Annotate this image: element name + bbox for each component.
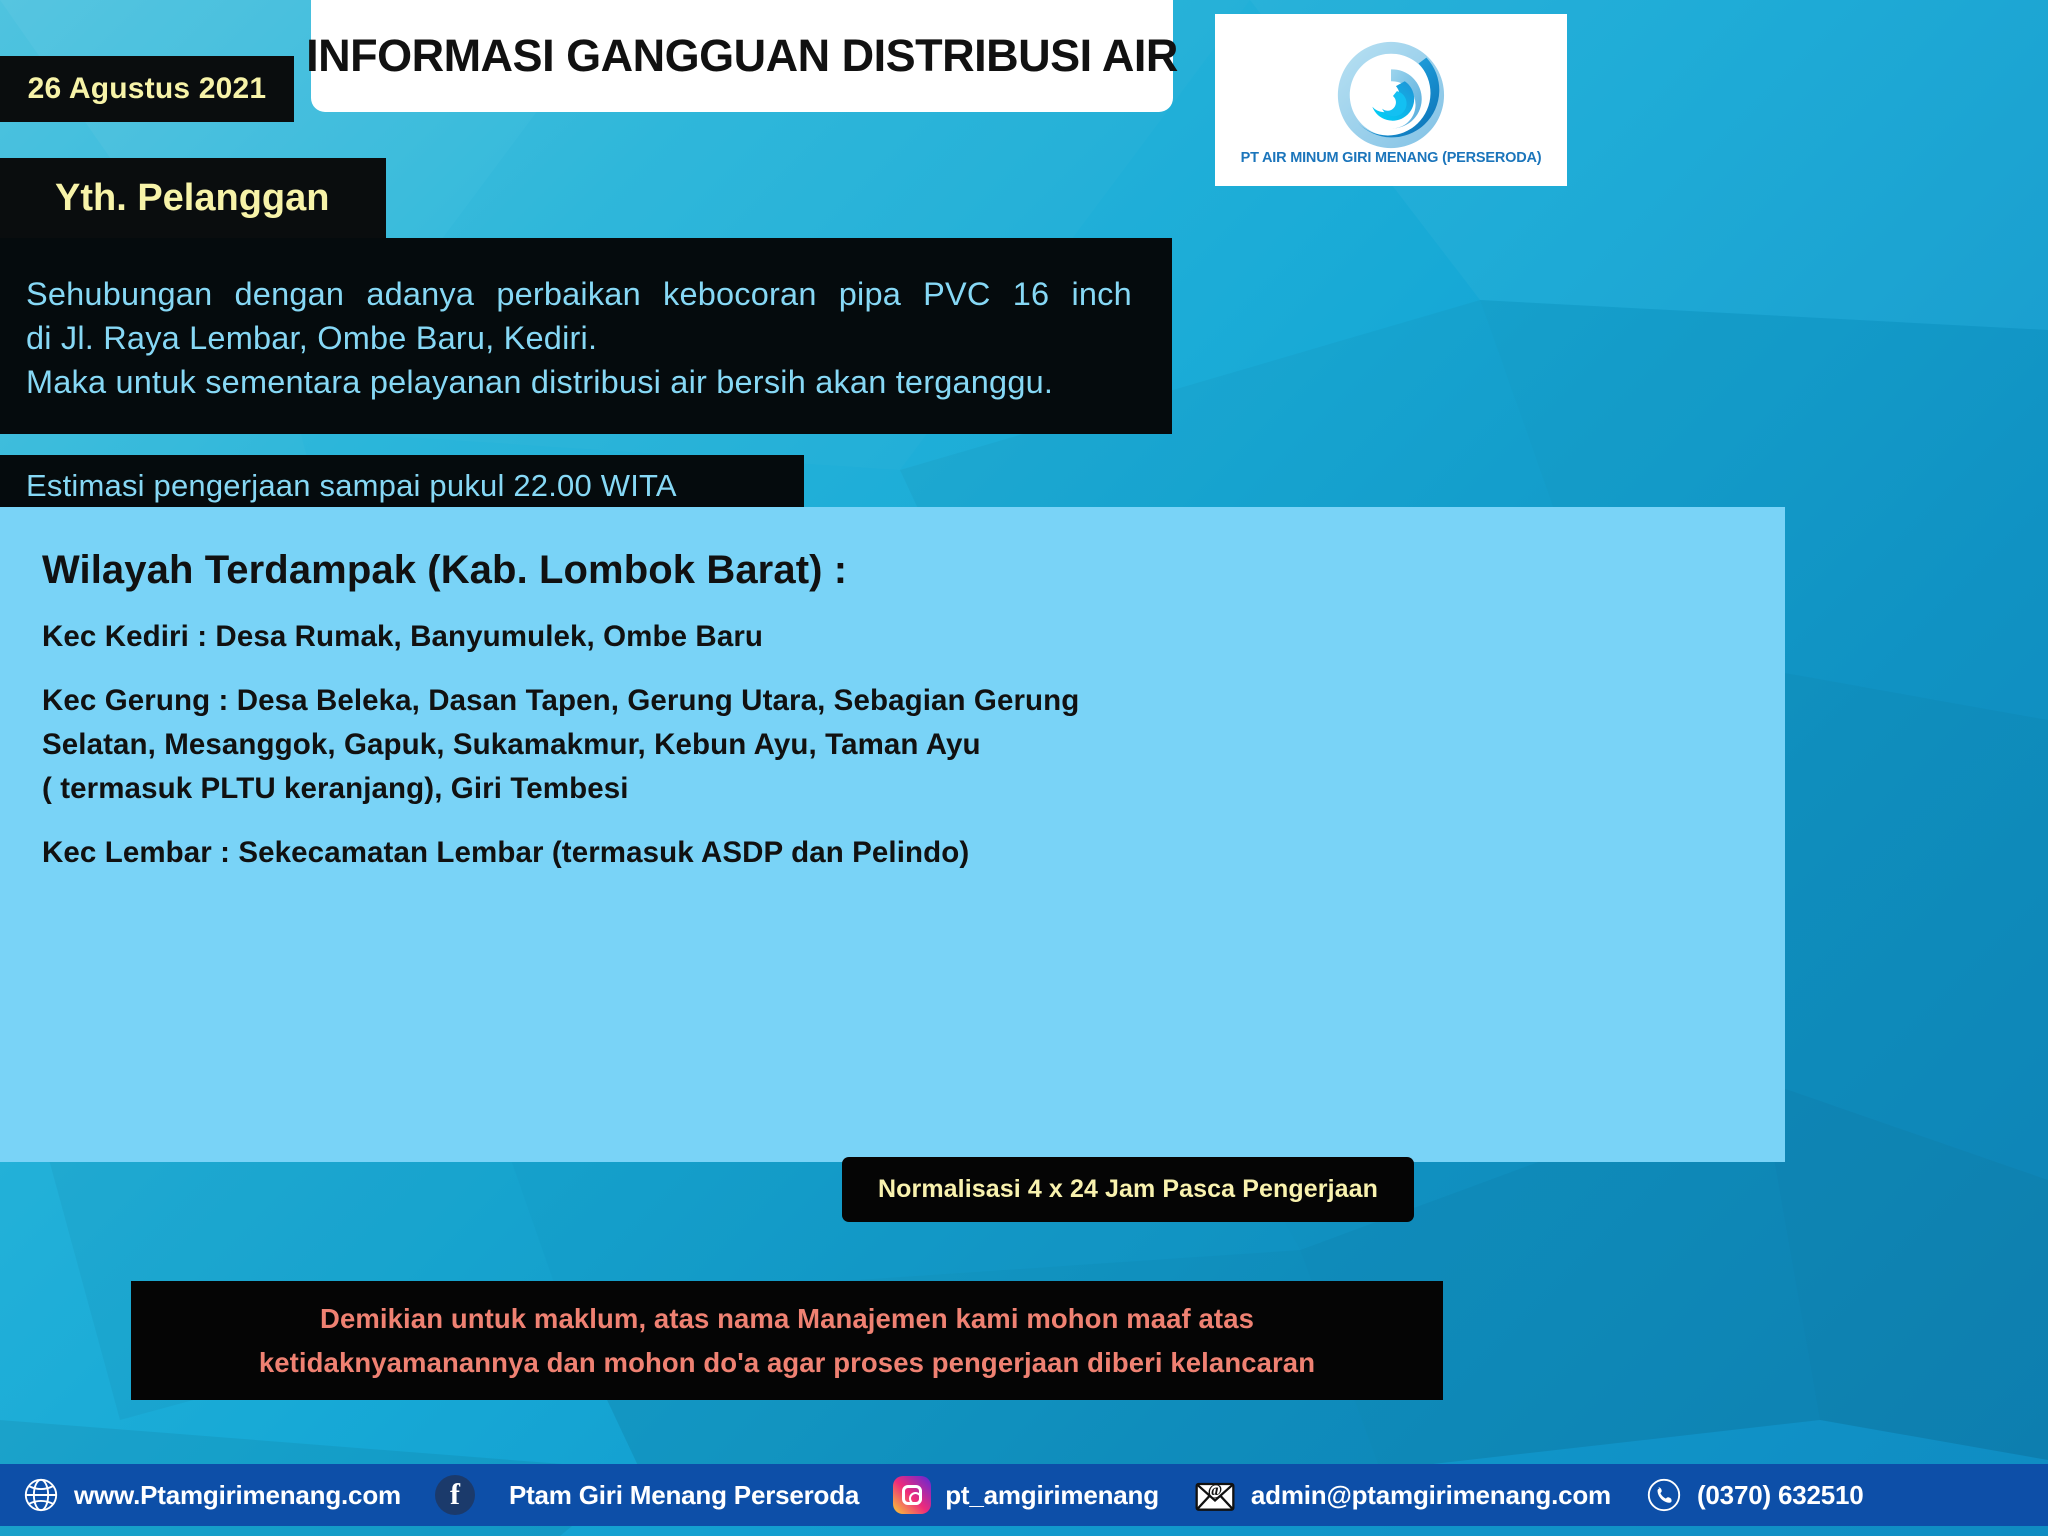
apology-block: Demikian untuk maklum, atas nama Manajem…: [131, 1281, 1443, 1400]
company-logo-card: PT AIR MINUM GIRI MENANG (PERSERODA): [1215, 14, 1567, 186]
page-title: INFORMASI GANGGUAN DISTRIBUSI AIR: [306, 30, 1178, 82]
affected-heading: Wilayah Terdampak (Kab. Lombok Barat) :: [42, 548, 1742, 593]
estimation-text: Estimasi pengerjaan sampai pukul 22.00 W…: [26, 468, 677, 504]
body-word: inch: [1071, 272, 1131, 316]
salutation-chip: Yth. Pelanggan: [0, 158, 386, 238]
email-envelope-icon: @: [1193, 1476, 1237, 1514]
instagram-icon[interactable]: [893, 1476, 931, 1514]
footer-website[interactable]: www.Ptamgirimenang.com: [74, 1480, 401, 1511]
facebook-icon[interactable]: f: [435, 1475, 475, 1515]
salutation-text: Yth. Pelanggan: [55, 177, 329, 220]
footer-phone[interactable]: (0370) 632510: [1697, 1480, 1864, 1511]
logo-caption: PT AIR MINUM GIRI MENANG (PERSERODA): [1241, 150, 1542, 166]
announcement-body: Sehubungandenganadanyaperbaikankebocoran…: [0, 238, 1172, 434]
affected-item-gerung-line2: Selatan, Mesanggok, Gapuk, Sukamakmur, K…: [42, 723, 1742, 767]
body-word: adanya: [366, 272, 474, 316]
affected-item-lembar: Kec Lembar : Sekecamatan Lembar (termasu…: [42, 831, 1742, 875]
affected-item-gerung-line1: Kec Gerung : Desa Beleka, Dasan Tapen, G…: [42, 679, 1742, 723]
footer-facebook[interactable]: Ptam Giri Menang Perseroda: [509, 1480, 859, 1511]
body-word: Sehubungan: [26, 272, 212, 316]
apology-line-2: ketidaknyamanannya dan mohon do'a agar p…: [259, 1341, 1315, 1385]
affected-areas-content: Wilayah Terdampak (Kab. Lombok Barat) : …: [42, 548, 1742, 895]
affected-item-gerung-line3: ( termasuk PLTU keranjang), Giri Tembesi: [42, 767, 1742, 811]
body-word: pipa: [839, 272, 901, 316]
body-word: perbaikan: [496, 272, 641, 316]
poster-canvas: INFORMASI GANGGUAN DISTRIBUSI AIR PT AIR: [0, 0, 2048, 1536]
contact-footer: www.Ptamgirimenang.com f Ptam Giri Menan…: [0, 1464, 2048, 1526]
globe-icon: [22, 1476, 60, 1514]
body-word: 16: [1013, 272, 1050, 316]
footer-email[interactable]: admin@ptamgirimenang.com: [1251, 1480, 1611, 1511]
affected-item-gerung: Kec Gerung : Desa Beleka, Dasan Tapen, G…: [42, 679, 1742, 811]
date-text: 26 Agustus 2021: [28, 72, 267, 106]
svg-text:@: @: [1208, 1482, 1223, 1499]
body-word: dengan: [235, 272, 345, 316]
apology-line-1: Demikian untuk maklum, atas nama Manajem…: [320, 1297, 1254, 1341]
poster-title-box: INFORMASI GANGGUAN DISTRIBUSI AIR: [311, 0, 1173, 112]
body-word: kebocoran: [663, 272, 817, 316]
date-chip: 26 Agustus 2021: [0, 56, 294, 122]
normalization-badge: Normalisasi 4 x 24 Jam Pasca Pengerjaan: [842, 1157, 1414, 1222]
phone-icon: [1645, 1476, 1683, 1514]
body-word: PVC: [923, 272, 990, 316]
body-line-2: di Jl. Raya Lembar, Ombe Baru, Kediri.: [26, 316, 1132, 360]
water-swirl-logo-icon: [1332, 36, 1450, 154]
footer-instagram[interactable]: pt_amgirimenang: [945, 1480, 1159, 1511]
normalization-text: Normalisasi 4 x 24 Jam Pasca Pengerjaan: [878, 1175, 1378, 1204]
affected-item-kediri: Kec Kediri : Desa Rumak, Banyumulek, Omb…: [42, 615, 1742, 659]
body-line-1: Sehubungandenganadanyaperbaikankebocoran…: [26, 272, 1132, 316]
body-line-3: Maka untuk sementara pelayanan distribus…: [26, 360, 1132, 404]
